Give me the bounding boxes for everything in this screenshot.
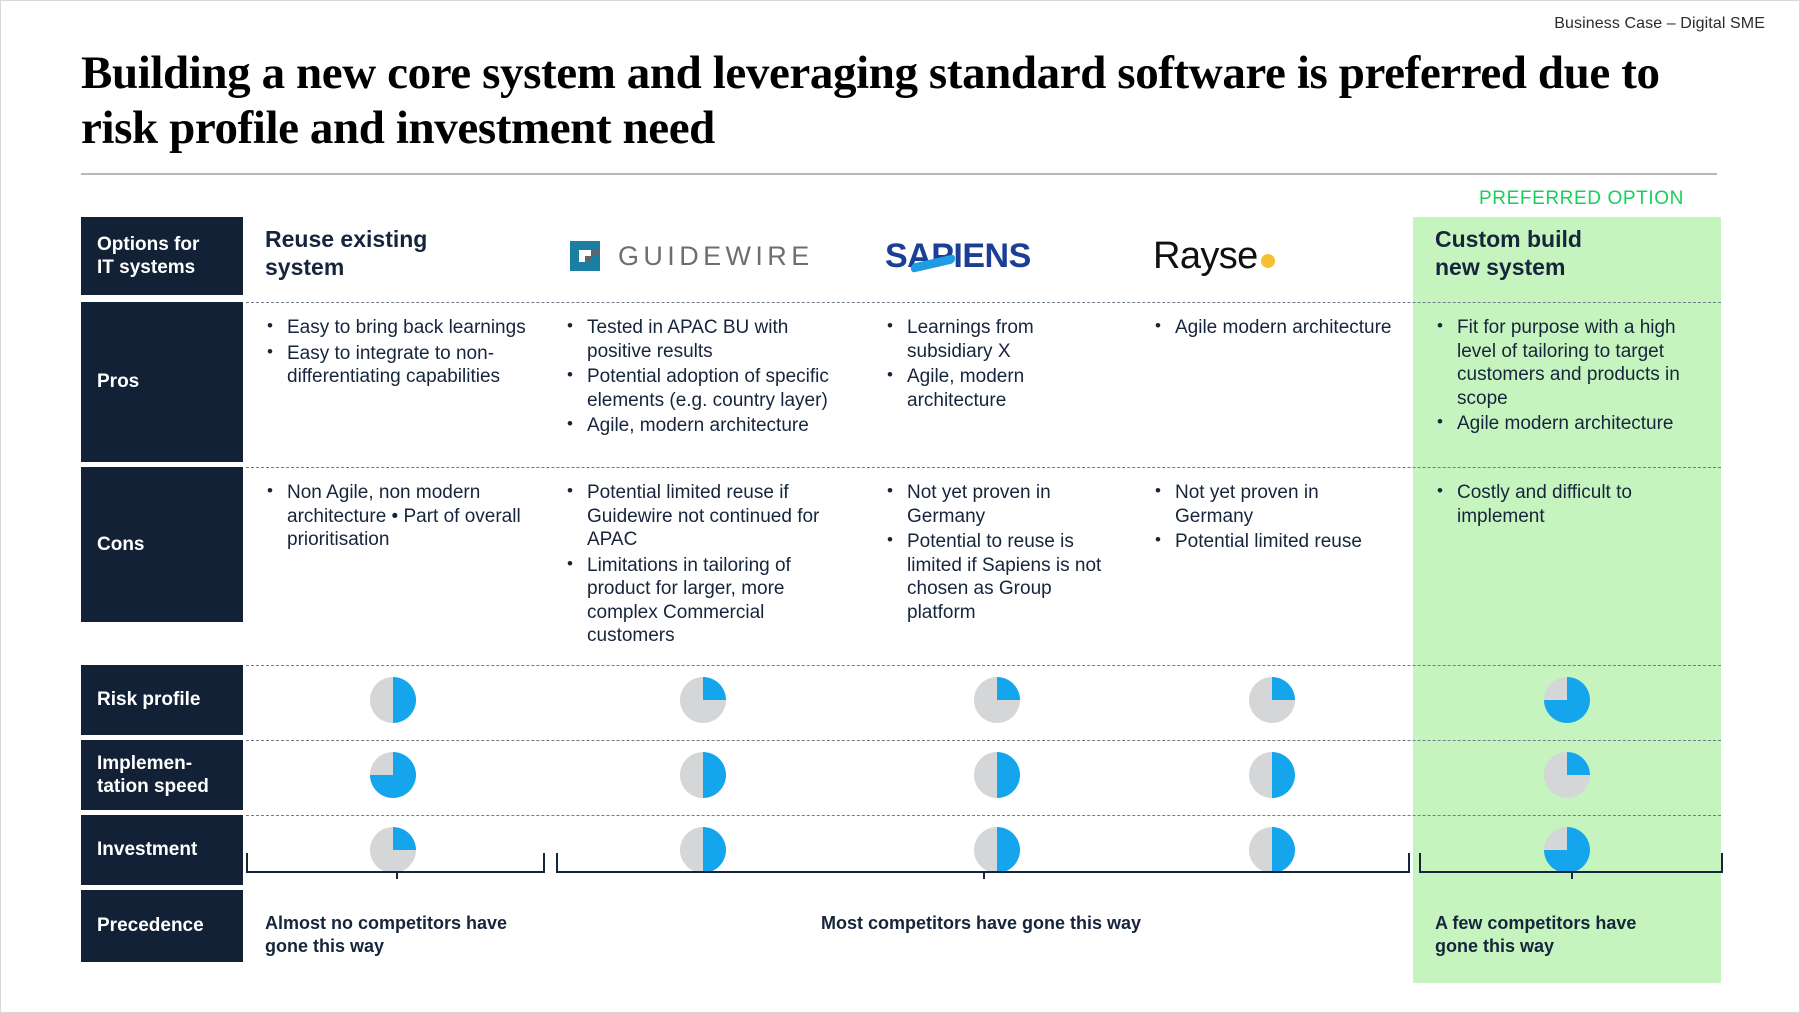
risk-pie-reuse (243, 665, 543, 735)
row-label-options-line2: IT systems (97, 256, 199, 279)
guidewire-logo-text: GUIDEWIRE (618, 241, 814, 272)
bracket-right (1419, 853, 1723, 873)
column-header-reuse[interactable]: Reuse existing system (243, 217, 543, 297)
row-label-investment: Investment (81, 815, 243, 885)
row-label-implementation-speed: Implemen- tation speed (81, 740, 243, 810)
list-item: Costly and difficult to implement (1435, 481, 1705, 528)
slide-page: Business Case – Digital SME Building a n… (0, 0, 1800, 1013)
bracket-middle (556, 853, 1410, 873)
speed-pie-custom (1413, 740, 1721, 810)
cons-cell-reuse: Non Agile, non modern architecture • Par… (243, 467, 543, 660)
speed-pie-reuse (243, 740, 543, 810)
list-item: Easy to bring back learnings (265, 316, 527, 340)
speed-pie-guidewire (543, 740, 863, 810)
column-header-guidewire[interactable]: GUIDEWIRE (543, 217, 863, 297)
precedence-right-line1: A few competitors have (1435, 912, 1705, 935)
list-item: Easy to integrate to non-differentiating… (265, 342, 527, 389)
list-item: Learnings from subsidiary X (885, 316, 1115, 363)
list-item: Potential adoption of specific elements … (565, 365, 847, 412)
list-item: Potential limited reuse (1153, 530, 1397, 554)
list-item: Potential to reuse is limited if Sapiens… (885, 530, 1115, 624)
row-label-options: Options for IT systems (81, 217, 243, 295)
page-title: Building a new core system and leveragin… (81, 46, 1711, 155)
table-row-precedence: Precedence Almost no competitors have go… (81, 890, 1721, 969)
rayse-logo-text: Rayse (1153, 235, 1258, 278)
list-item: Tested in APAC BU with positive results (565, 316, 847, 363)
sapiens-logo-text: SAPIENS (885, 237, 1031, 275)
pros-cell-guidewire: Tested in APAC BU with positive results … (543, 302, 863, 462)
row-label-risk-profile: Risk profile (81, 665, 243, 735)
row-label-speed-line2: tation speed (97, 775, 209, 798)
precedence-middle-line1: Most competitors have gone this way (565, 912, 1397, 935)
list-item: Agile, modern architecture (565, 414, 847, 438)
guidewire-logo-icon (565, 236, 605, 276)
row-divider (246, 815, 1721, 816)
reuse-heading-line1: Reuse existing (265, 225, 527, 253)
row-label-pros: Pros (81, 302, 243, 462)
list-item: Agile modern architecture (1153, 316, 1397, 340)
row-label-cons: Cons (81, 467, 243, 622)
list-item: Agile, modern architecture (885, 365, 1115, 412)
column-header-rayse[interactable]: Rayse (1131, 217, 1413, 297)
risk-pie-guidewire (543, 665, 863, 735)
list-item: Not yet proven in Germany (1153, 481, 1397, 528)
precedence-left-line1: Almost no competitors have (265, 912, 527, 935)
cons-cell-rayse: Not yet proven in Germany Potential limi… (1131, 467, 1413, 660)
pros-cell-reuse: Easy to bring back learnings Easy to int… (243, 302, 543, 462)
row-label-options-line1: Options for (97, 233, 199, 256)
table-row-implementation-speed: Implemen- tation speed (81, 740, 1721, 810)
precedence-brackets (246, 853, 1726, 875)
row-divider (246, 467, 1721, 468)
rayse-dot-icon (1261, 254, 1275, 268)
precedence-text-middle: Most competitors have gone this way (543, 890, 1413, 969)
precedence-left-line2: gone this way (265, 935, 527, 958)
cons-cell-custom: Costly and difficult to implement (1413, 467, 1721, 660)
cons-cell-sapiens: Not yet proven in Germany Potential to r… (863, 467, 1131, 660)
row-divider (246, 665, 1721, 666)
cons-cell-guidewire: Potential limited reuse if Guidewire not… (543, 467, 863, 660)
list-item: Not yet proven in Germany (885, 481, 1115, 528)
row-label-speed-line1: Implemen- (97, 752, 209, 775)
risk-pie-sapiens (863, 665, 1131, 735)
bracket-left (246, 853, 545, 873)
document-tag: Business Case – Digital SME (1554, 15, 1765, 33)
list-item: Agile modern architecture (1435, 412, 1705, 436)
title-divider (81, 173, 1717, 175)
table-row-risk-profile: Risk profile (81, 665, 1721, 735)
table-row-cons: Cons Non Agile, non modern architecture … (81, 467, 1721, 660)
sapiens-logo-icon: SAPIENS (885, 237, 1031, 276)
pros-cell-custom: Fit for purpose with a high level of tai… (1413, 302, 1721, 462)
precedence-right-line2: gone this way (1435, 935, 1705, 958)
custom-heading-line2: new system (1435, 253, 1705, 281)
column-header-sapiens[interactable]: SAPIENS (863, 217, 1131, 297)
list-item: Non Agile, non modern architecture • Par… (265, 481, 527, 552)
list-item: Fit for purpose with a high level of tai… (1435, 316, 1705, 410)
speed-pie-sapiens (863, 740, 1131, 810)
precedence-text-right: A few competitors have gone this way (1413, 890, 1721, 969)
risk-pie-custom (1413, 665, 1721, 735)
rayse-logo-icon: Rayse (1153, 235, 1275, 278)
custom-heading-line1: Custom build (1435, 225, 1705, 253)
pros-cell-sapiens: Learnings from subsidiary X Agile, moder… (863, 302, 1131, 462)
risk-pie-rayse (1131, 665, 1413, 735)
row-label-precedence: Precedence (81, 890, 243, 962)
table-header-row: Options for IT systems Reuse existing sy… (81, 217, 1721, 297)
list-item: Limitations in tailoring of product for … (565, 554, 847, 648)
pros-cell-rayse: Agile modern architecture (1131, 302, 1413, 462)
list-item: Potential limited reuse if Guidewire not… (565, 481, 847, 552)
row-divider (246, 740, 1721, 741)
row-divider (246, 302, 1721, 303)
speed-pie-rayse (1131, 740, 1413, 810)
table-row-pros: Pros Easy to bring back learnings Easy t… (81, 302, 1721, 462)
column-header-custom[interactable]: Custom build new system (1413, 217, 1721, 297)
precedence-text-left: Almost no competitors have gone this way (243, 890, 543, 969)
reuse-heading-line2: system (265, 253, 527, 281)
preferred-option-label: PREFERRED OPTION (1479, 188, 1684, 210)
